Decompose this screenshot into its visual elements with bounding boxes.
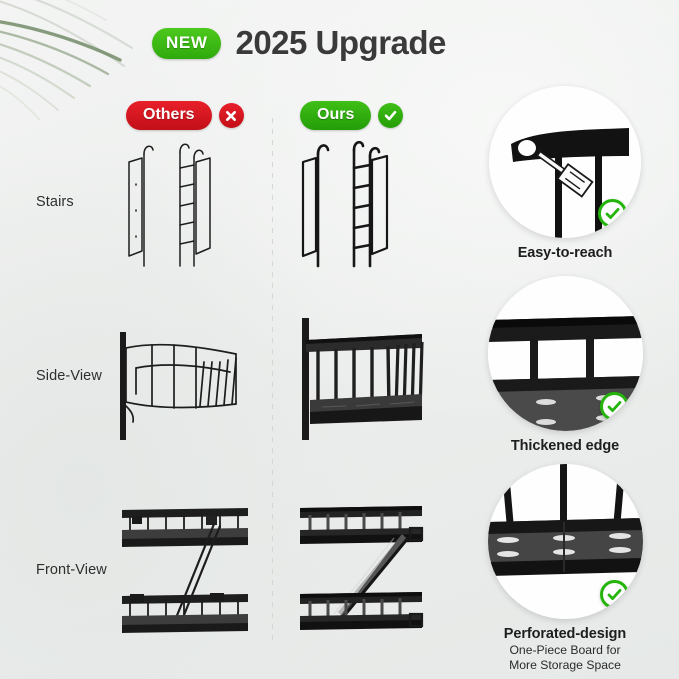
header: NEW 2025 Upgrade [152,24,446,62]
drawing-ours-side-view [292,318,442,442]
drawing-others-stairs [118,138,258,268]
infographic-page: NEW 2025 Upgrade Others Ours Stairs Side… [0,0,679,679]
check-icon [378,103,403,128]
drawing-ours-stairs [292,138,432,268]
check-icon [600,392,629,421]
check-icon [600,580,629,609]
drawing-others-front-view [114,498,269,633]
check-icon [598,199,627,228]
column-divider [272,118,273,646]
column-header-others: Others [126,101,244,130]
ours-label: Ours [300,101,371,130]
feature-easy-to-reach: Easy-to-reach [465,86,665,261]
feature-title: Easy-to-reach [465,245,665,261]
feature-title: Perforated-design [465,626,665,642]
others-label: Others [126,101,212,130]
column-headers: Others Ours [0,101,460,135]
feature-thickened-edge: Thickened edge [465,276,665,454]
new-badge: NEW [152,28,221,59]
feature-image-easy-to-reach [489,86,641,238]
column-header-ours: Ours [300,101,403,130]
feature-subtitle: One-Piece Board for More Storage Space [465,643,665,673]
page-title: 2025 Upgrade [235,24,445,62]
cross-icon [219,103,244,128]
drawing-others-side-view [112,332,262,440]
row-label-side-view: Side-View [36,368,102,384]
feature-subtitle-line1: One-Piece Board for [465,643,665,658]
feature-subtitle-line2: More Storage Space [465,658,665,673]
feature-image-perforated-design [488,464,643,619]
drawing-ours-front-view [290,498,445,633]
feature-title: Thickened edge [465,438,665,454]
feature-image-thickened-edge [488,276,643,431]
row-label-front-view: Front-View [36,562,107,578]
row-label-stairs: Stairs [36,194,74,210]
feature-perforated-design: Perforated-design One-Piece Board for Mo… [465,464,665,673]
